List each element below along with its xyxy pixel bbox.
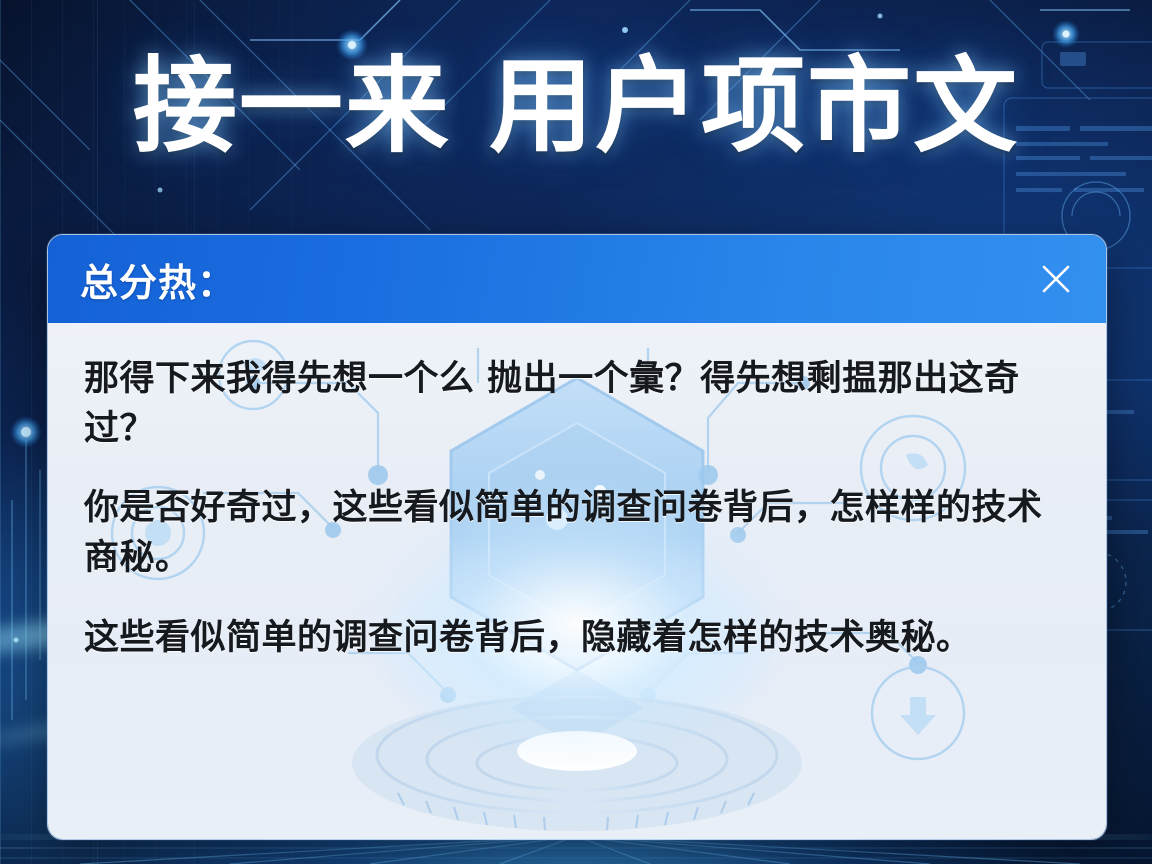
close-button[interactable] <box>1032 255 1080 303</box>
dialog-paragraph: 那得下来我得先想一个么 抛出一个彙？得先想剩揾那出这奇过？ <box>84 355 1066 454</box>
dialog-paragraph: 这些看似简单的调查问卷背后，隐藏着怎样的技术奥秘。 <box>84 614 1066 664</box>
dialog-window: 总分热： <box>47 234 1107 840</box>
dialog-paragraph: 你是否好奇过，这些看似简单的调查问卷背后，怎样样的技术商秘。 <box>84 484 1066 583</box>
dialog-body: 那得下来我得先想一个么 抛出一个彙？得先想剩揾那出这奇过？ 你是否好奇过，这些看… <box>48 323 1106 839</box>
dialog-title: 总分热： <box>80 252 1032 307</box>
screenshot-stage: 接一来 用户项市文 总分热： <box>0 0 1152 864</box>
close-icon <box>1036 259 1076 299</box>
dialog-title-bar: 总分热： <box>48 235 1106 323</box>
dialog-content: 那得下来我得先想一个么 抛出一个彙？得先想剩揾那出这奇过？ 你是否好奇过，这些看… <box>48 323 1106 663</box>
page-title: 接一来 用户项市文 <box>0 52 1152 161</box>
